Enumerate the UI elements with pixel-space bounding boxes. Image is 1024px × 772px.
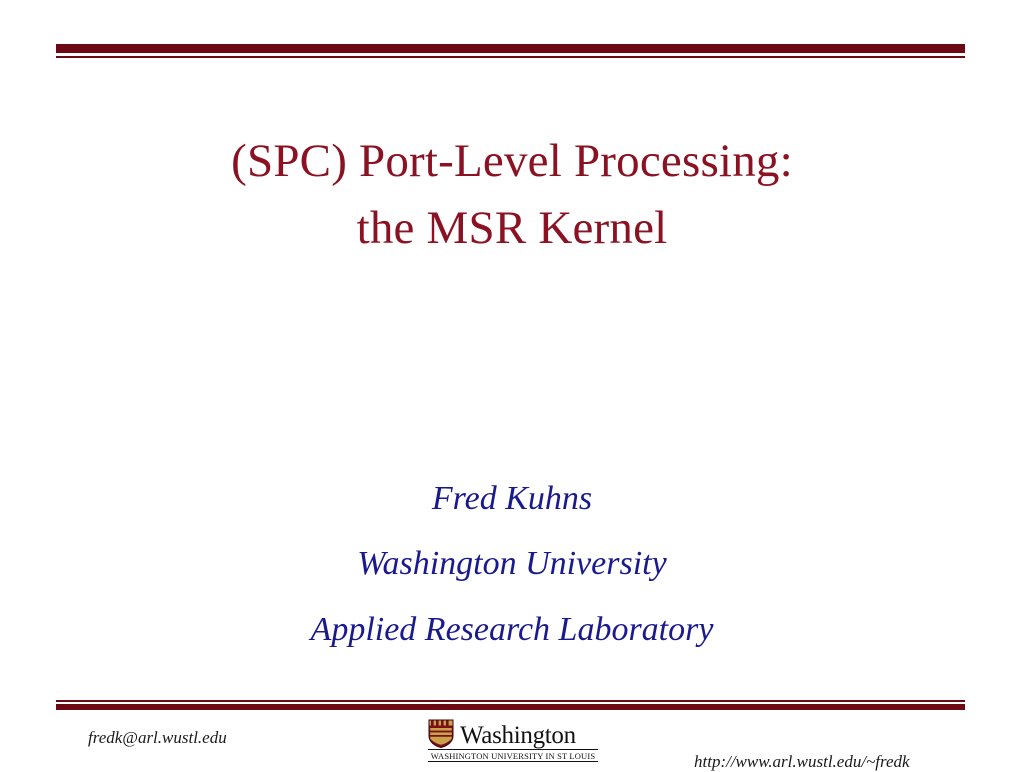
slide-title: (SPC) Port-Level Processing: the MSR Ker…: [0, 128, 1024, 261]
bottom-divider: [56, 700, 965, 710]
shield-crest-icon: [428, 719, 454, 748]
slide-canvas: (SPC) Port-Level Processing: the MSR Ker…: [0, 0, 1024, 768]
footer-url: http://www.arl.wustl.edu/~fredk: [694, 752, 910, 772]
top-divider-thick-bar: [56, 44, 965, 53]
slide-subtitle: Fred Kuhns Washington University Applied…: [0, 466, 1024, 662]
washington-university-logo: Washington WASHINGTON UNIVERSITY IN ST L…: [428, 719, 604, 763]
top-divider: [56, 44, 965, 58]
author-institution: Washington University: [0, 531, 1024, 596]
top-divider-thin-bar: [56, 56, 965, 58]
slide-title-line-1: (SPC) Port-Level Processing:: [0, 128, 1024, 195]
footer-email: fredk@arl.wustl.edu: [88, 728, 227, 748]
logo-row: Washington: [428, 719, 604, 748]
bottom-divider-thick-bar: [56, 704, 965, 710]
author-department: Applied Research Laboratory: [0, 597, 1024, 662]
slide-title-line-2: the MSR Kernel: [0, 195, 1024, 262]
logo-wordmark: Washington: [460, 724, 576, 748]
logo-tagline: WASHINGTON UNIVERSITY IN ST LOUIS: [428, 749, 598, 762]
author-name: Fred Kuhns: [0, 466, 1024, 531]
